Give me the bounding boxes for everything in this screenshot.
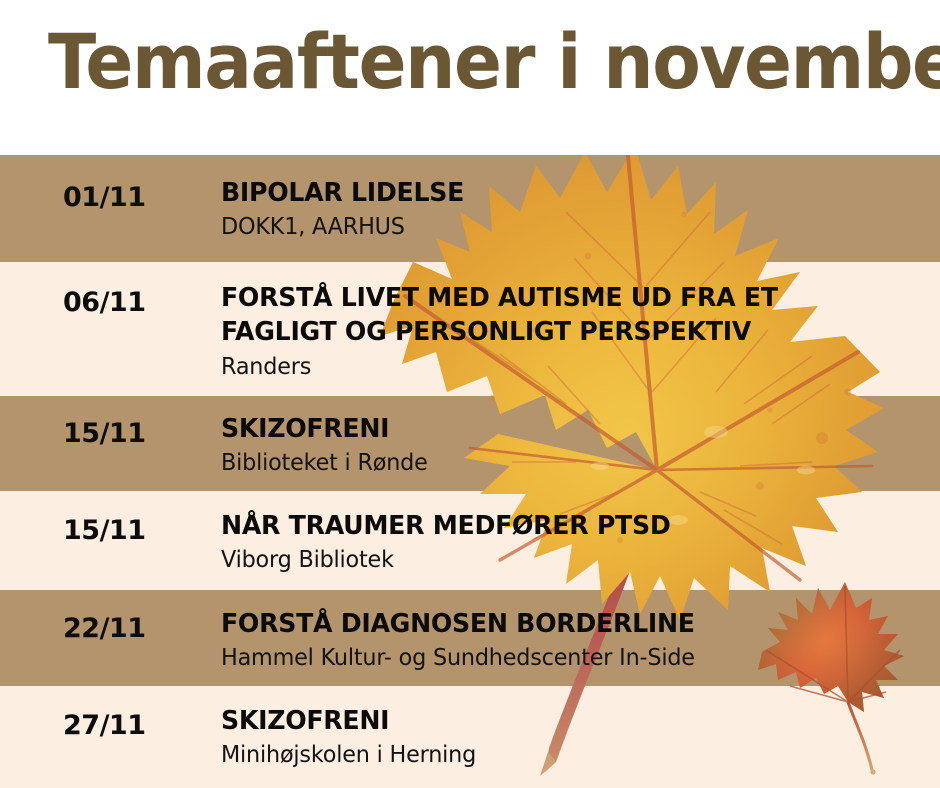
event-date: 15/11 [63, 418, 146, 449]
schedule-row[interactable]: 15/11SKIZOFRENIBiblioteket i Rønde [0, 396, 940, 491]
header-area: Temaaftener i november [0, 0, 940, 155]
event-details: FORSTÅ LIVET MED AUTISME UD FRA ET FAGLI… [221, 281, 930, 383]
event-details: SKIZOFRENIBiblioteket i Rønde [221, 412, 930, 479]
event-title: SKIZOFRENI [221, 704, 909, 738]
event-title: FORSTÅ DIAGNOSEN BORDERLINE [221, 607, 909, 641]
poster-canvas: Temaaftener i november 01/11BIPOLAR LIDE… [0, 0, 940, 788]
event-venue: Viborg Bibliotek [221, 545, 909, 576]
schedule-row[interactable]: 22/11FORSTÅ DIAGNOSEN BORDERLINEHammel K… [0, 590, 940, 686]
event-title: SKIZOFRENI [221, 412, 909, 446]
event-details: SKIZOFRENIMinihøjskolen i Herning [221, 704, 930, 771]
schedule-row[interactable]: 27/11SKIZOFRENIMinihøjskolen i Herning [0, 686, 940, 788]
event-date: 22/11 [63, 613, 146, 644]
event-venue: Biblioteket i Rønde [221, 448, 909, 479]
event-venue: Minihøjskolen i Herning [221, 740, 909, 771]
schedule-row[interactable]: 01/11BIPOLAR LIDELSEDOKK1, AARHUS [0, 155, 940, 262]
page-title: Temaaftener i november [48, 20, 940, 104]
schedule-list: 01/11BIPOLAR LIDELSEDOKK1, AARHUS06/11FO… [0, 155, 940, 788]
schedule-row[interactable]: 06/11FORSTÅ LIVET MED AUTISME UD FRA ET … [0, 262, 940, 396]
event-date: 06/11 [63, 287, 146, 318]
event-title: NÅR TRAUMER MEDFØRER PTSD [221, 509, 909, 543]
schedule-row[interactable]: 15/11NÅR TRAUMER MEDFØRER PTSDViborg Bib… [0, 491, 940, 590]
event-venue: Randers [221, 352, 909, 383]
event-venue: DOKK1, AARHUS [221, 212, 909, 243]
event-details: FORSTÅ DIAGNOSEN BORDERLINEHammel Kultur… [221, 607, 930, 674]
event-date: 01/11 [63, 182, 146, 213]
event-date: 15/11 [63, 515, 146, 546]
event-venue: Hammel Kultur- og Sundhedscenter In-Side [221, 643, 909, 674]
event-title: BIPOLAR LIDELSE [221, 176, 909, 210]
event-title: FORSTÅ LIVET MED AUTISME UD FRA ET FAGLI… [221, 281, 909, 350]
event-date: 27/11 [63, 710, 146, 741]
event-details: BIPOLAR LIDELSEDOKK1, AARHUS [221, 176, 930, 243]
event-details: NÅR TRAUMER MEDFØRER PTSDViborg Bibliote… [221, 509, 930, 576]
